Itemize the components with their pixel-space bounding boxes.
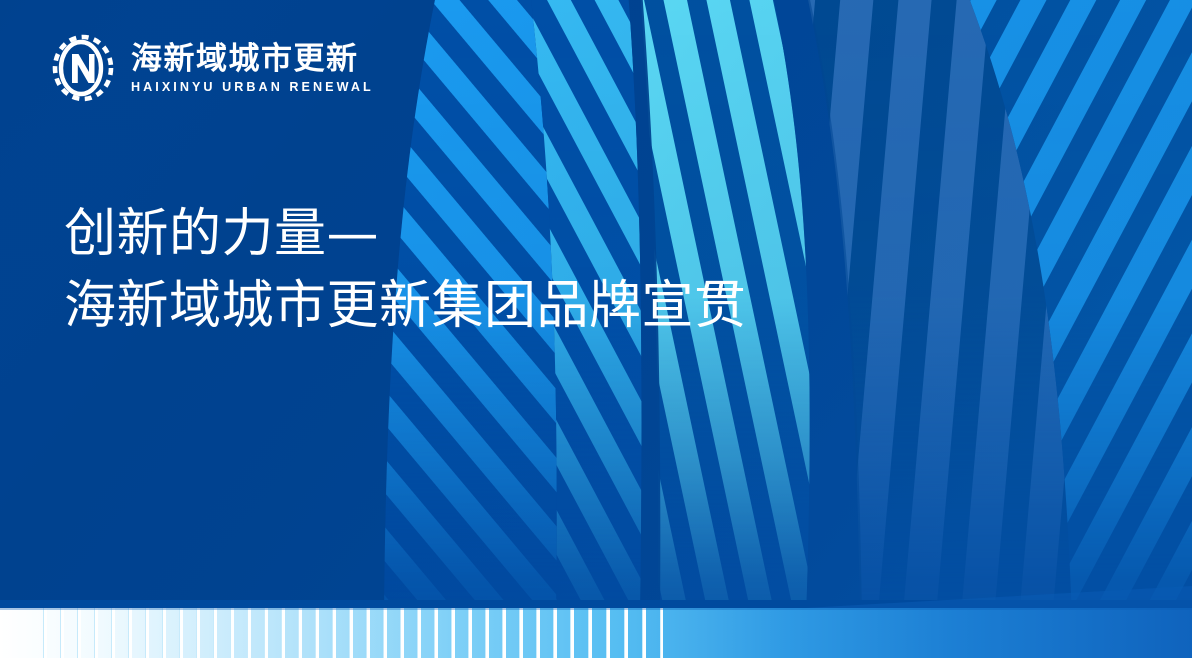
title-line-1: 创新的力量— <box>64 198 747 270</box>
title-line-2: 海新域城市更新集团品牌宣贯 <box>64 270 747 342</box>
logo-company-name-en: HAIXINYU URBAN RENEWAL <box>131 80 374 95</box>
haixinyu-oval-n-monogram-icon <box>48 33 118 103</box>
slide-title: 创新的力量— 海新域城市更新集团品牌宣贯 <box>64 198 747 342</box>
bottom-bar-strip <box>0 608 1192 658</box>
logo-company-name-cn: 海新域城市更新 <box>131 43 374 76</box>
logo-wordmark: 海新域城市更新 HAIXINYU URBAN RENEWAL <box>131 41 374 96</box>
brand-logo: 海新域城市更新 HAIXINYU URBAN RENEWAL <box>48 33 374 103</box>
title-slide: 海新域城市更新 HAIXINYU URBAN RENEWAL 创新的力量— 海新… <box>0 0 1192 658</box>
